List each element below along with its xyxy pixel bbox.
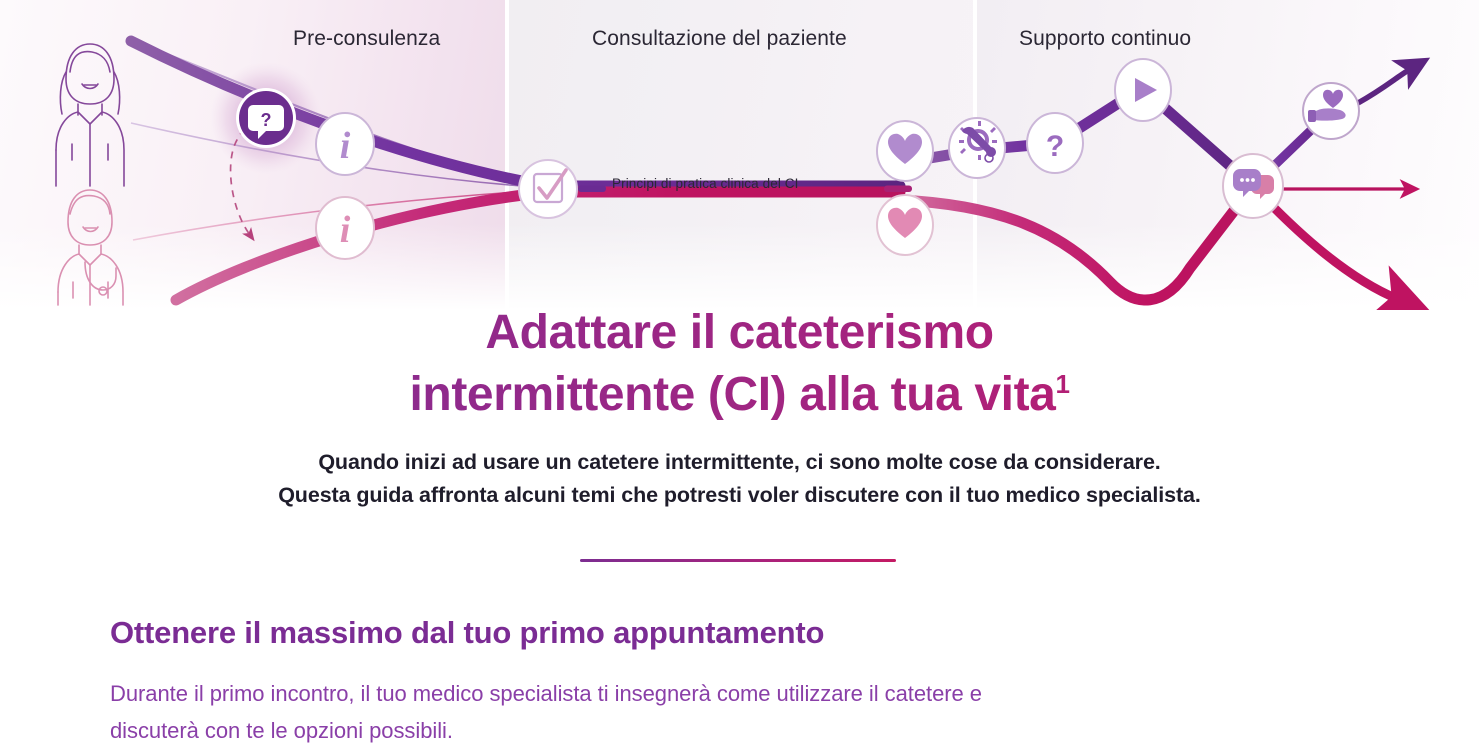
page-root: Pre-consulenza Consultazione del pazient…: [0, 0, 1479, 755]
page-title: Adattare il cateterismo intermittente (C…: [0, 302, 1479, 426]
question-bubble-icon: ?: [236, 88, 296, 148]
section-divider: [580, 559, 896, 562]
principles-track-label: Principi di pratica clinica del CI: [612, 176, 798, 191]
section-body-text: Durante il primo incontro, il tuo medico…: [110, 675, 1340, 749]
headline-line-2: intermittente (CI) alla tua vita: [409, 368, 1055, 421]
settings-tools-icon: [949, 118, 1005, 178]
section-body-line-1: Durante il primo incontro, il tuo medico…: [110, 675, 1340, 712]
svg-text:?: ?: [261, 110, 272, 130]
play-video-icon: [1115, 59, 1171, 121]
page-subtitle: Quando inizi ad usare un catetere interm…: [0, 446, 1479, 512]
question-icon: ?: [1027, 113, 1083, 173]
avatar-patient-woman: [56, 44, 124, 186]
subtitle-line-2: Questa guida affronta alcuni temi che po…: [0, 479, 1479, 512]
avatar-clinician-man: [58, 190, 123, 305]
heart-icon-patient: [877, 121, 933, 181]
headline-line-1: Adattare il cateterismo: [485, 306, 993, 359]
svg-text:?: ?: [1046, 130, 1064, 163]
svg-text:i: i: [340, 125, 351, 167]
subtitle-line-1: Quando inizi ad usare un catetere interm…: [0, 446, 1479, 479]
info-icon-clinician: i: [316, 197, 374, 259]
section-body-line-2: discuterà con te le opzioni possibili.: [110, 712, 1340, 749]
section-heading: Ottenere il massimo dal tuo primo appunt…: [110, 615, 824, 651]
patient-journey-diagram: Pre-consulenza Consultazione del pazient…: [0, 0, 1479, 310]
heart-icon-clinician: [877, 195, 933, 255]
checklist-icon: [519, 160, 577, 218]
info-icon-patient: i: [316, 113, 374, 175]
hand-heart-care-icon: [1303, 83, 1359, 139]
journey-paths: ? i i: [0, 0, 1479, 310]
headline-superscript: 1: [1055, 369, 1069, 399]
svg-text:i: i: [340, 209, 351, 251]
chat-bubbles-icon: [1223, 154, 1283, 218]
